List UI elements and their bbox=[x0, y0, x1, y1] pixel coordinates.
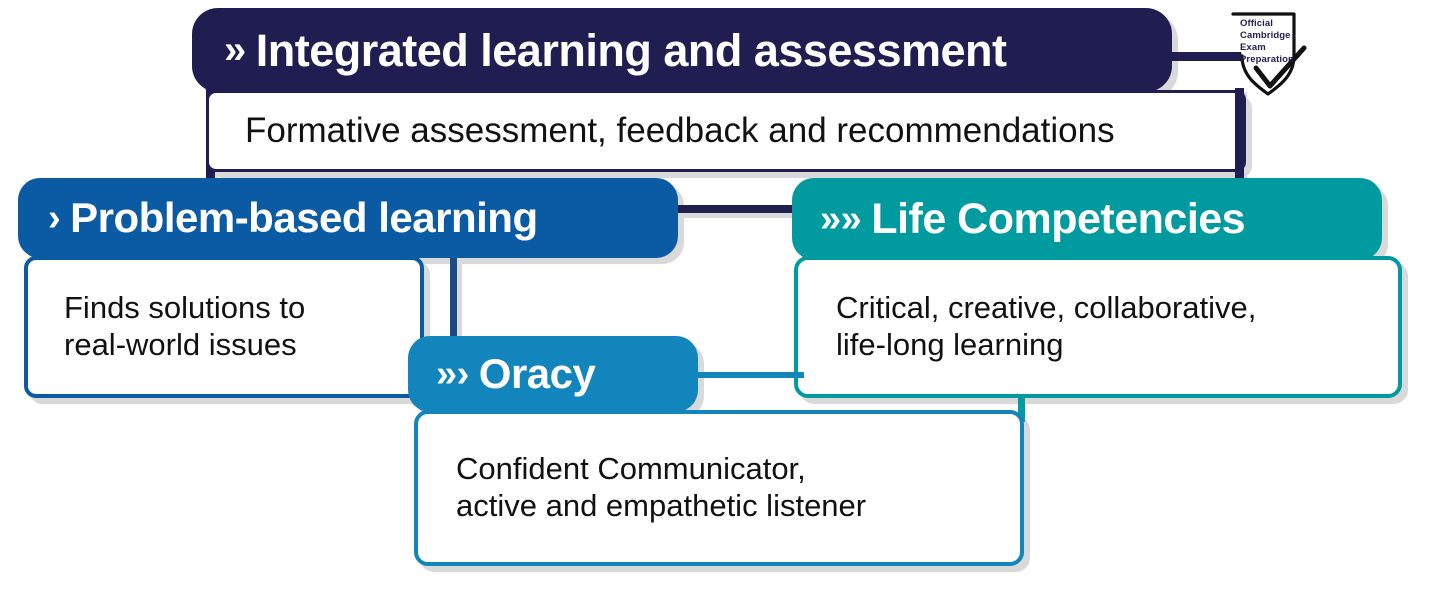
connector-oracy-to-life-competencies bbox=[694, 372, 804, 378]
problem-based-learning-body: Finds solutions to real-world issues bbox=[64, 290, 305, 363]
problem-based-learning-card: Finds solutions to real-world issues bbox=[24, 256, 424, 398]
chevron-quadruple-right-icon: »» bbox=[820, 200, 861, 238]
connector-problem-based-to-life-competencies bbox=[672, 205, 802, 213]
official-cambridge-exam-preparation-badge: Official Cambridge Exam Preparation bbox=[1216, 4, 1320, 108]
chevron-double-right-icon: » bbox=[224, 30, 246, 70]
integrated-learning-body: Formative assessment, feedback and recom… bbox=[245, 110, 1115, 151]
badge-line-4: Preparation bbox=[1240, 54, 1294, 66]
oracy-title: Oracy bbox=[479, 353, 596, 395]
badge-line-1: Official bbox=[1240, 18, 1294, 30]
integrated-learning-header[interactable]: » Integrated learning and assessment bbox=[192, 8, 1172, 92]
life-competencies-card: Critical, creative, collaborative, life-… bbox=[794, 256, 1402, 398]
badge-line-3: Exam bbox=[1240, 42, 1294, 54]
badge-line-2: Cambridge bbox=[1240, 30, 1294, 42]
oracy-body: Confident Communicator, active and empat… bbox=[456, 451, 866, 524]
integrated-learning-title: Integrated learning and assessment bbox=[256, 28, 1007, 73]
problem-based-learning-title: Problem-based learning bbox=[70, 197, 537, 239]
oracy-header[interactable]: »› Oracy bbox=[408, 336, 698, 412]
life-competencies-header[interactable]: »» Life Competencies bbox=[792, 178, 1382, 260]
chevron-triple-right-icon: »› bbox=[436, 355, 469, 393]
diagram-canvas: Formative assessment, feedback and recom… bbox=[0, 0, 1440, 592]
life-competencies-title: Life Competencies bbox=[871, 198, 1245, 241]
integrated-learning-card: Formative assessment, feedback and recom… bbox=[206, 90, 1246, 172]
life-competencies-body: Critical, creative, collaborative, life-… bbox=[836, 290, 1256, 363]
badge-text-block: Official Cambridge Exam Preparation bbox=[1240, 18, 1294, 67]
problem-based-learning-header[interactable]: › Problem-based learning bbox=[18, 178, 678, 258]
chevron-right-icon: › bbox=[48, 199, 60, 237]
oracy-card: Confident Communicator, active and empat… bbox=[414, 410, 1024, 566]
